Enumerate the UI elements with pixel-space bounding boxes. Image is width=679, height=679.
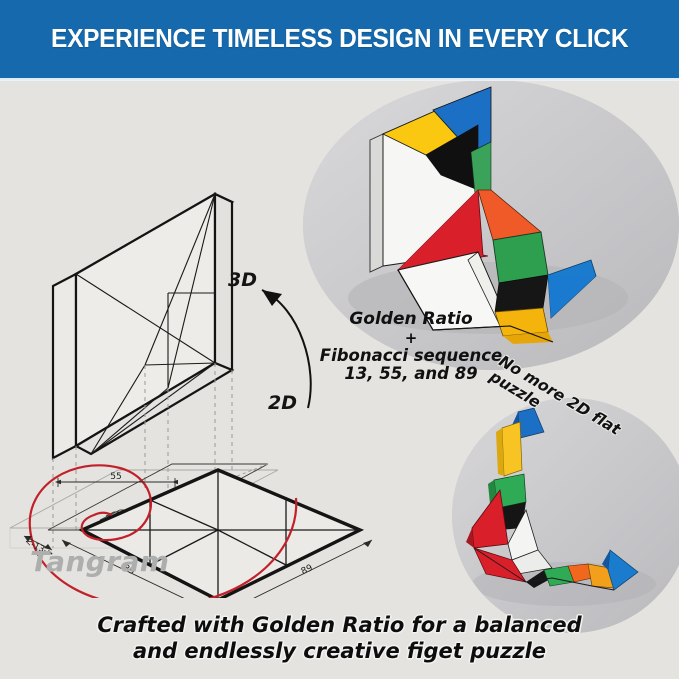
label-2d: 2D — [268, 392, 297, 414]
bottom-caption-line-1: Crafted with Golden Ratio for a balanced — [0, 612, 679, 638]
dimension-label-89-right: 89 — [300, 563, 315, 577]
tangram-standing-photo-illustration — [452, 398, 679, 633]
product-photo-bottom — [452, 398, 679, 633]
bottom-caption: Crafted with Golden Ratio for a balanced… — [0, 612, 679, 665]
dimension-transition-arrow — [262, 290, 311, 408]
label-3d: 3D — [228, 269, 257, 291]
golden-ratio-line-4: 13, 55, and 89 — [306, 365, 516, 383]
watermark-tangram: Tangram — [30, 545, 169, 578]
transition-arrowhead — [262, 290, 282, 306]
golden-ratio-line-1: Golden Ratio — [306, 310, 516, 329]
infographic-page: EXPERIENCE TIMELESS DESIGN IN EVERY CLIC… — [0, 0, 679, 679]
golden-ratio-line-2: + — [306, 330, 516, 347]
golden-ratio-annotation: Golden Ratio + Fibonacci sequence 13, 55… — [306, 310, 516, 384]
banner-title: EXPERIENCE TIMELESS DESIGN IN EVERY CLIC… — [51, 25, 628, 54]
golden-ratio-line-3: Fibonacci sequence — [306, 347, 516, 365]
header-banner: EXPERIENCE TIMELESS DESIGN IN EVERY CLIC… — [0, 0, 679, 81]
banner-underline — [0, 78, 679, 81]
bottom-caption-line-2: and endlessly creative figet puzzle — [0, 638, 679, 664]
dimension-label-55: 55 — [110, 472, 121, 482]
